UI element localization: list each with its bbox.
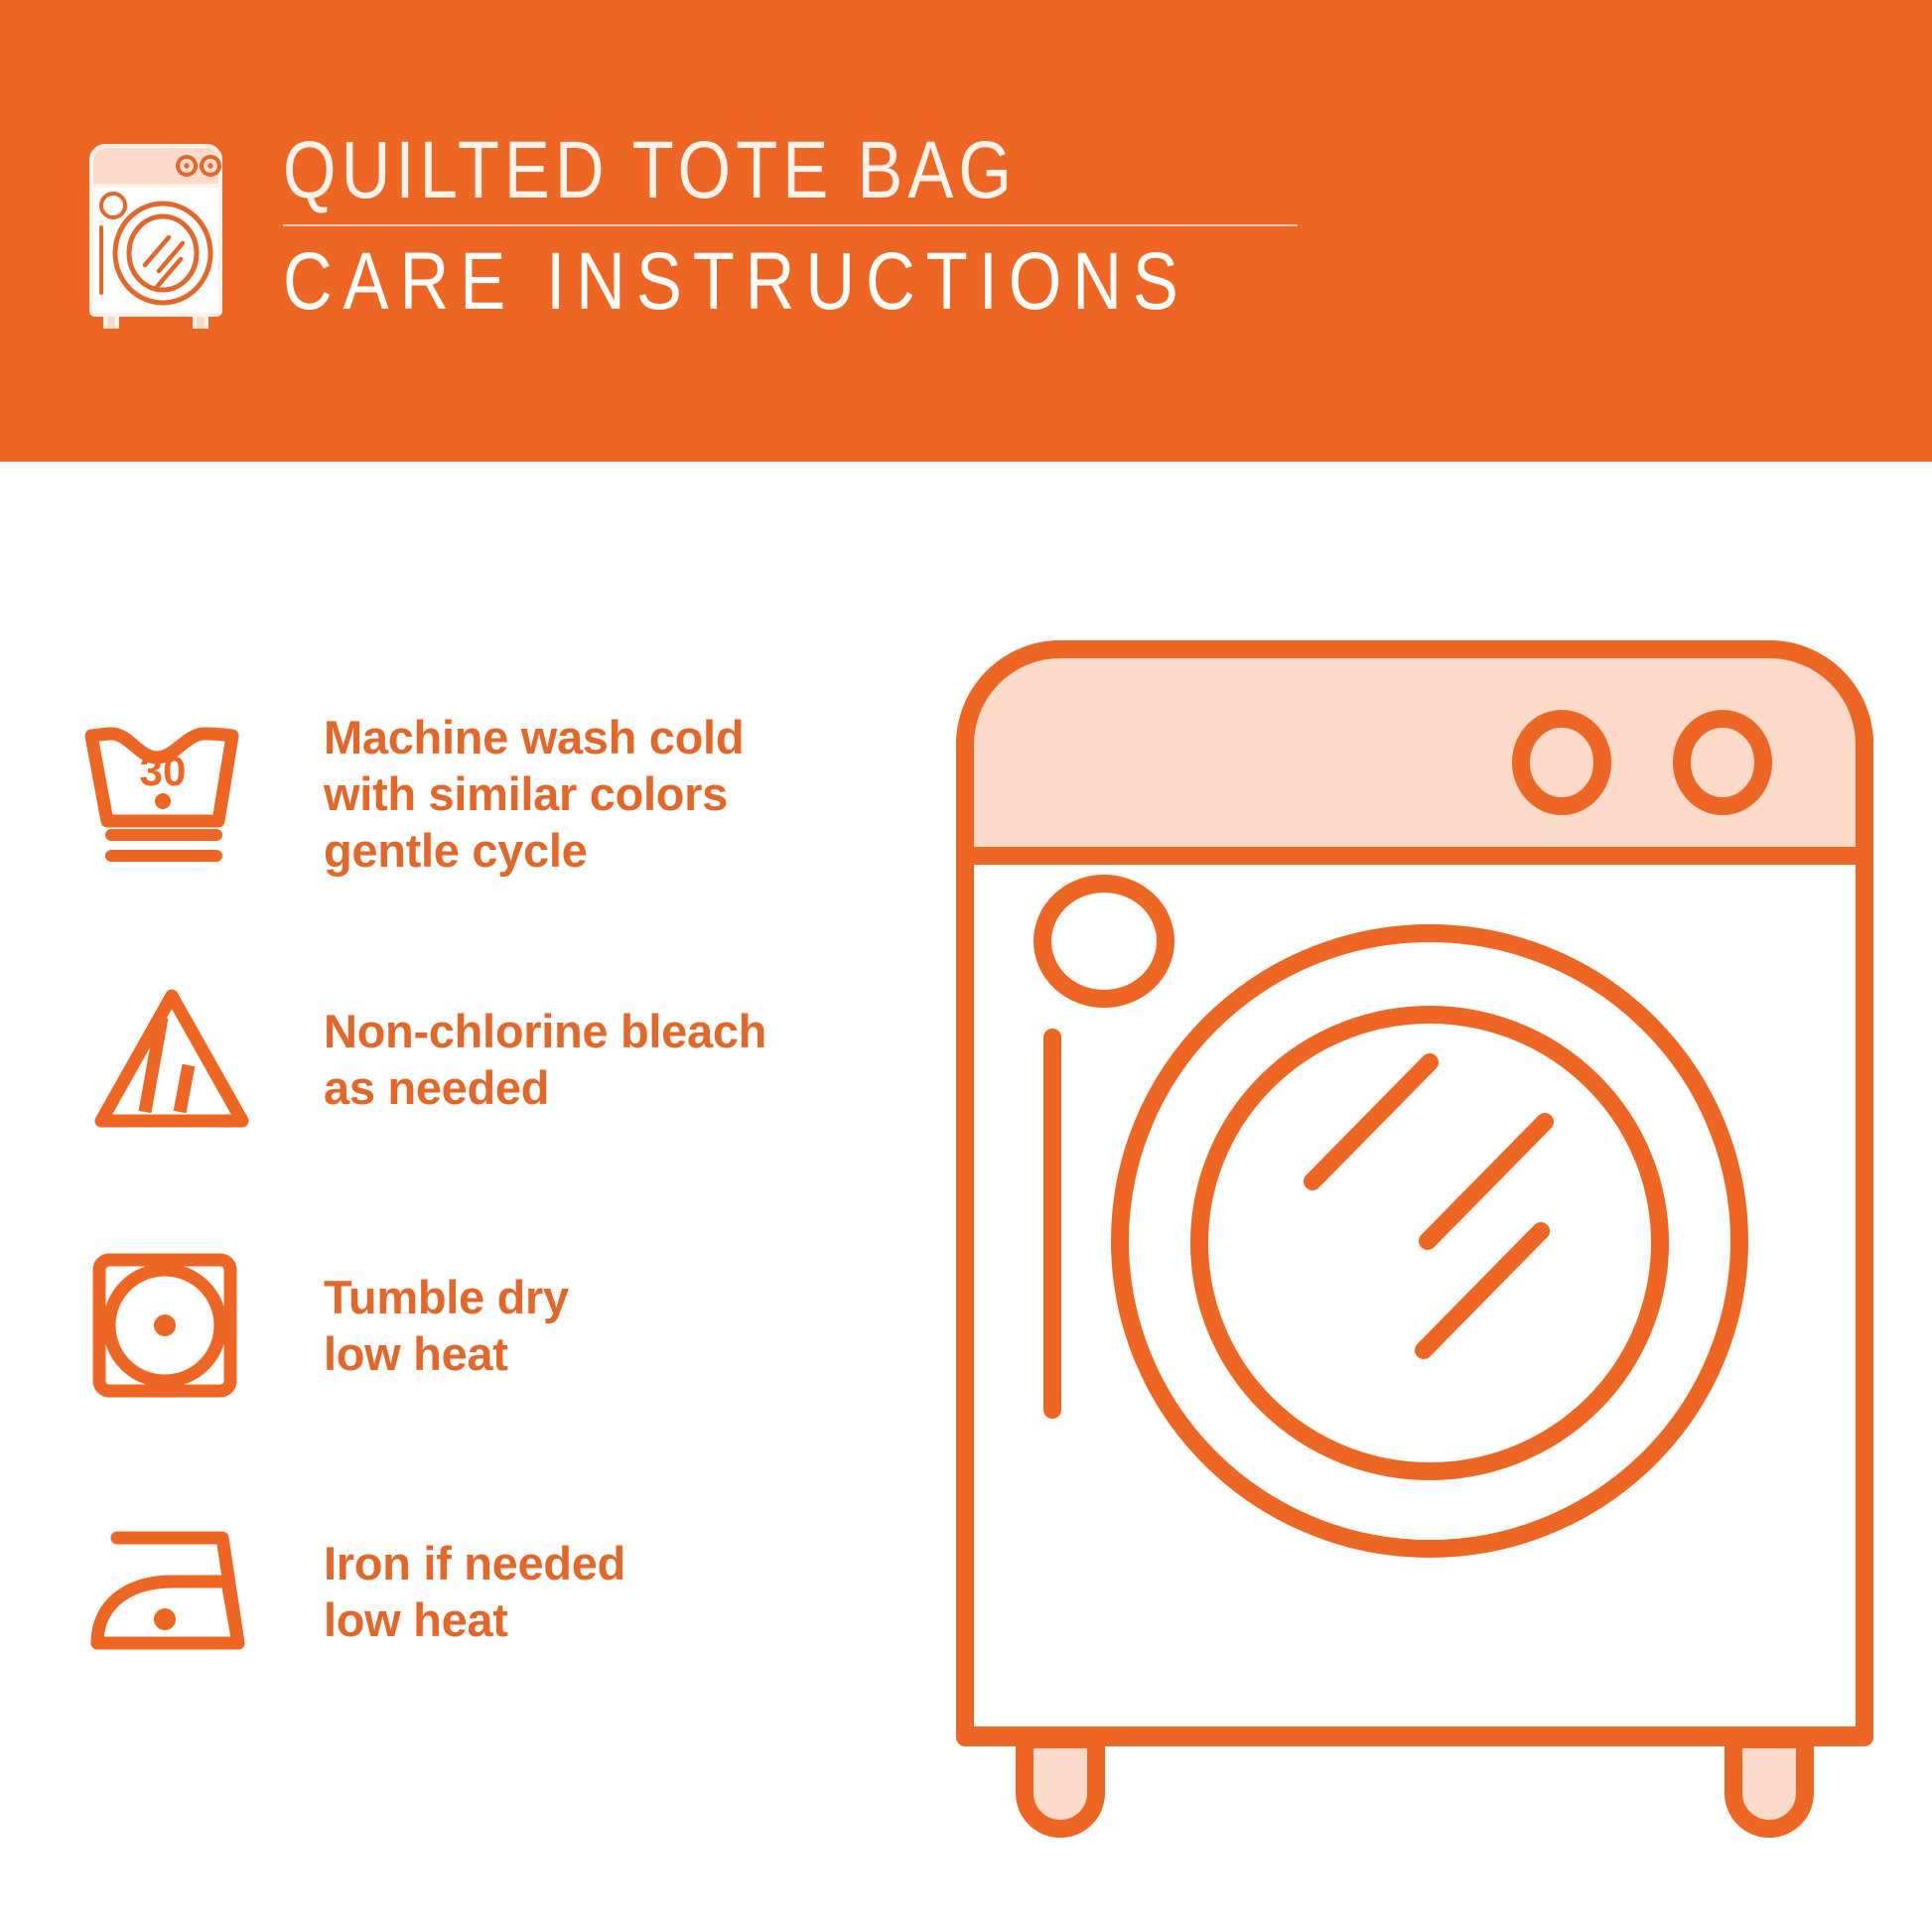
care-line: Non-chlorine bleach (324, 1003, 892, 1059)
header-band: QUILTED TOTE BAG CARE INSTRUCTIONS (0, 0, 1932, 462)
care-item-label: Iron if needed low heat (324, 1535, 892, 1648)
care-item-bleach: Non-chlorine bleach as needed (77, 926, 892, 1192)
care-item-machine-wash: 30 Machine wash cold with similar colors… (77, 660, 892, 926)
care-line: Iron if needed (324, 1535, 892, 1591)
page-title: QUILTED TOTE BAG (283, 127, 1189, 214)
care-item-label: Tumble dry low heat (324, 1269, 892, 1382)
care-item-label: Non-chlorine bleach as needed (324, 1003, 892, 1116)
care-item-tumble-dry: Tumble dry low heat (77, 1192, 892, 1458)
wash-temperature-label: 30 (140, 748, 187, 794)
care-item-iron: Iron if needed low heat (77, 1458, 892, 1725)
care-line: with similar colors (324, 765, 892, 822)
title-divider (283, 224, 1298, 226)
machine-wash-30-gentle-icon: 30 (77, 694, 306, 893)
tumble-dry-low-icon (77, 1226, 306, 1425)
control-panel (965, 649, 1864, 856)
care-instructions-list: 30 Machine wash cold with similar colors… (77, 660, 892, 1725)
care-line: Tumble dry (324, 1269, 892, 1325)
care-line: gentle cycle (324, 822, 892, 879)
page-subtitle: CARE INSTRUCTIONS (283, 238, 1189, 326)
washing-machine-icon (77, 130, 241, 329)
washer-leg-left (1025, 1739, 1096, 1829)
washer-leg-right (1733, 1739, 1805, 1829)
care-line: low heat (324, 1591, 892, 1648)
care-line: low heat (324, 1325, 892, 1382)
care-line: Machine wash cold (324, 709, 892, 765)
iron-low-heat-icon (77, 1492, 306, 1691)
washing-machine-illustration (953, 625, 1876, 1847)
header-title-group: QUILTED TOTE BAG CARE INSTRUCTIONS (283, 127, 1362, 326)
care-item-label: Machine wash cold with similar colors ge… (324, 709, 892, 879)
header-content: QUILTED TOTE BAG CARE INSTRUCTIONS (77, 127, 1328, 341)
non-chlorine-bleach-icon (77, 960, 306, 1159)
care-line: as needed (324, 1059, 892, 1116)
